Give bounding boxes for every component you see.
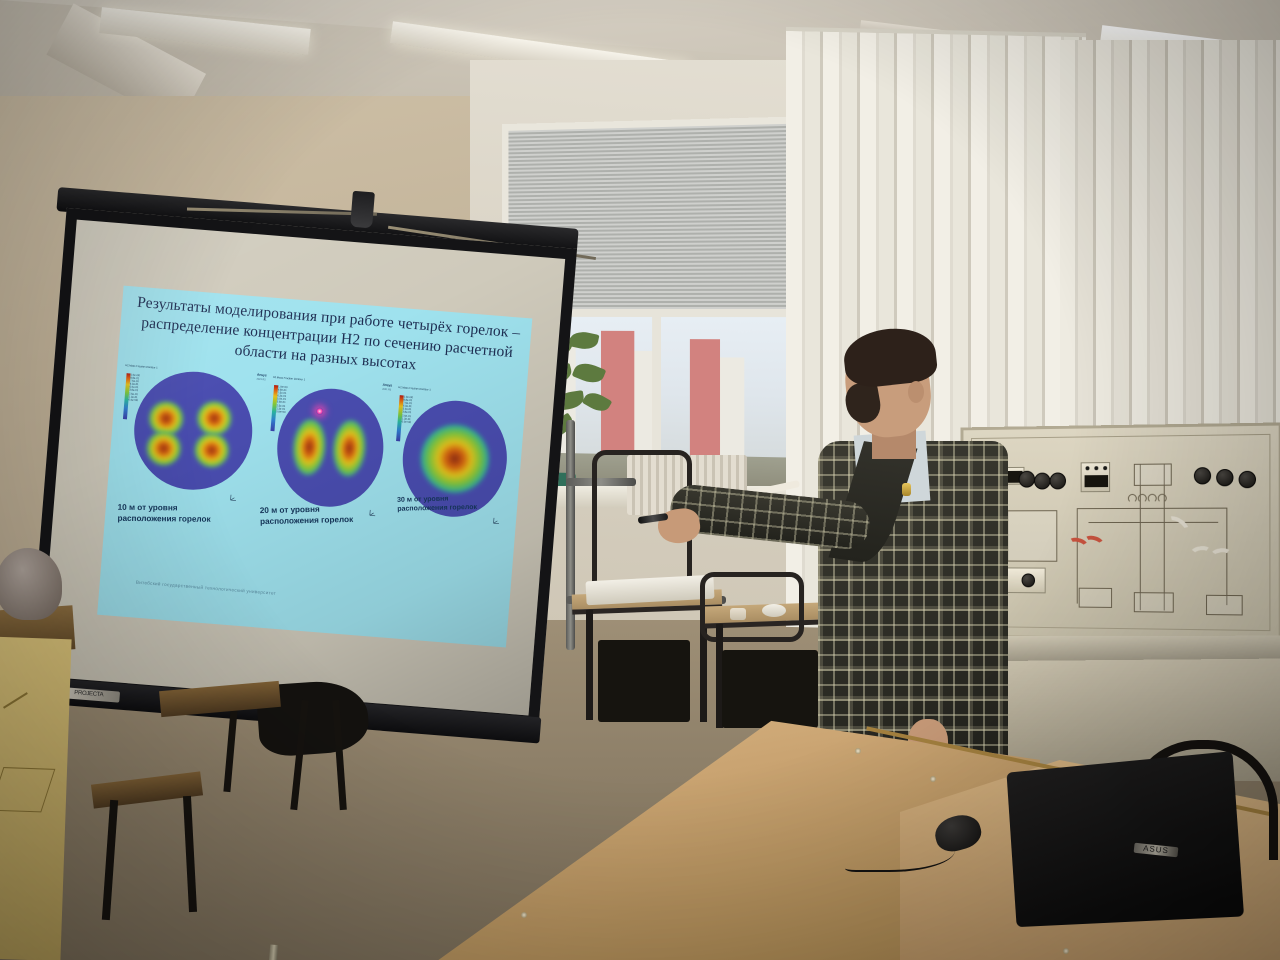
vertical-blinds-right-panel[interactable] [1060, 40, 1280, 470]
presenter-hair [841, 324, 938, 389]
schematic-load-3 [1206, 595, 1243, 616]
knob-right-2[interactable] [1216, 469, 1233, 486]
schematic-load-1 [1079, 588, 1112, 608]
board-diagram-line [3, 692, 28, 709]
slide-plot-row: H2.Mass Fraction Contour 1 1.0e+00 8.8e-… [104, 359, 527, 566]
plot-1-hotspot-3 [196, 400, 233, 437]
table-screw-3 [930, 776, 936, 782]
laptop[interactable] [1006, 751, 1244, 927]
classroom-presentation-scene: Результаты моделирования при работе четы… [0, 0, 1280, 960]
presenter-ear [908, 381, 924, 403]
schematic-coil-2 [1138, 494, 1147, 503]
plot-2-ansys-label: Ansys [257, 373, 267, 378]
plot-1-hotspot-2 [145, 430, 182, 467]
plot-3-caption: 30 м от уровня расположения горелок [397, 493, 503, 514]
schematic-block-left [1007, 510, 1057, 562]
projector-screen-surface: Результаты моделирования при работе четы… [28, 208, 577, 728]
electrical-training-panel[interactable] [961, 422, 1280, 642]
schematic-wire-2 [1088, 522, 1218, 523]
plot-2-ansys-version: 2021 R2 [256, 378, 265, 382]
table-screw-2 [855, 748, 861, 754]
schematic-coil-4 [1158, 494, 1167, 503]
plot-3-legend-ticks: 1.0e+00 8.8e-01 7.5e-01 6.3e-01 5.0e-01 … [401, 395, 413, 424]
plot-1-legend: H2.Mass Fraction Contour 1 1.0e+00 8.8e-… [125, 364, 151, 369]
plot-3-central-core [418, 422, 491, 495]
plot-3-legend-header: H2.Mass Fraction Contour 1 [398, 386, 424, 391]
table-screw-4 [1063, 948, 1069, 954]
plot-2-legend-header: H2.Mass Fraction Contour 1 [273, 376, 299, 381]
bench-leg-1 [586, 610, 593, 720]
plot-2-legend: H2.Mass Fraction Contour 1 1.0e+00 8.8e-… [273, 376, 299, 381]
schematic-coil-1 [1128, 494, 1137, 503]
plot-2-lobe-left [291, 418, 327, 476]
slide-content: Результаты моделирования при работе четы… [97, 286, 532, 648]
breaker-module[interactable] [1081, 462, 1110, 492]
board-diagram-shape [0, 767, 55, 812]
plot-2-caption: 20 м от уровня расположения горелок [260, 502, 373, 527]
plot-1-caption: 10 м от уровня расположения горелок [117, 502, 229, 525]
plot-1-hotspot-4 [193, 432, 230, 469]
contour-plot-2: Ansys 2021 R2 H2.Mass Fraction Contour 1… [244, 371, 396, 542]
knob-right-3[interactable] [1239, 471, 1256, 488]
plot-1-legend-header: H2.Mass Fraction Contour 1 [125, 364, 151, 369]
yellow-display-board [0, 637, 72, 960]
knob-left-2[interactable] [1034, 473, 1050, 490]
presenter [650, 325, 1000, 765]
lapel-pin [902, 483, 911, 496]
slide-footer: Витебский государственный технологически… [136, 580, 277, 597]
tick: 0.0e+00 [276, 410, 286, 414]
tick: 0.0e+00 [128, 398, 138, 402]
plot-3-ansys-version: 2021 R2 [382, 388, 391, 392]
rotary-selector[interactable] [1022, 573, 1035, 587]
contour-plot-1: H2.Mass Fraction Contour 1 1.0e+00 8.8e-… [111, 360, 263, 531]
presenter-hand [656, 506, 702, 546]
plot-3-ansys-label: Ansys [382, 383, 392, 388]
heating-pipe-vertical [566, 420, 575, 650]
plot-3-axis-triad-icon [492, 516, 502, 526]
plot-1-axis-triad-icon [229, 493, 239, 503]
plot-2-legend-ticks: 1.0e+00 8.8e-01 7.5e-01 6.3e-01 5.0e-01 … [276, 385, 288, 414]
screen-hook-mount [350, 191, 375, 229]
schematic-coil-3 [1148, 494, 1157, 503]
contour-plot-3: Ansys 2021 R2 H2.Mass Fraction Contour 1… [374, 381, 526, 552]
knob-right-1[interactable] [1194, 467, 1211, 484]
plot-3-legend: H2.Mass Fraction Contour 1 1.0e+00 8.8e-… [398, 386, 424, 391]
schematic-load-2 [1134, 592, 1174, 613]
tick: 0.0e+00 [401, 420, 411, 424]
plot-1-domain-circle [130, 367, 257, 494]
knob-left-1[interactable] [1019, 471, 1035, 488]
table-screw-1 [521, 912, 527, 918]
plot-1-legend-ticks: 1.0e+00 8.8e-01 7.5e-01 6.3e-01 5.0e-01 … [128, 373, 140, 402]
schematic-transformer [1134, 463, 1172, 485]
projector-screen-assembly: Результаты моделирования при работе четы… [9, 185, 581, 766]
knob-left-3[interactable] [1050, 472, 1067, 489]
plot-2-lobe-right [331, 419, 367, 477]
plot-2-domain-circle [273, 385, 388, 511]
